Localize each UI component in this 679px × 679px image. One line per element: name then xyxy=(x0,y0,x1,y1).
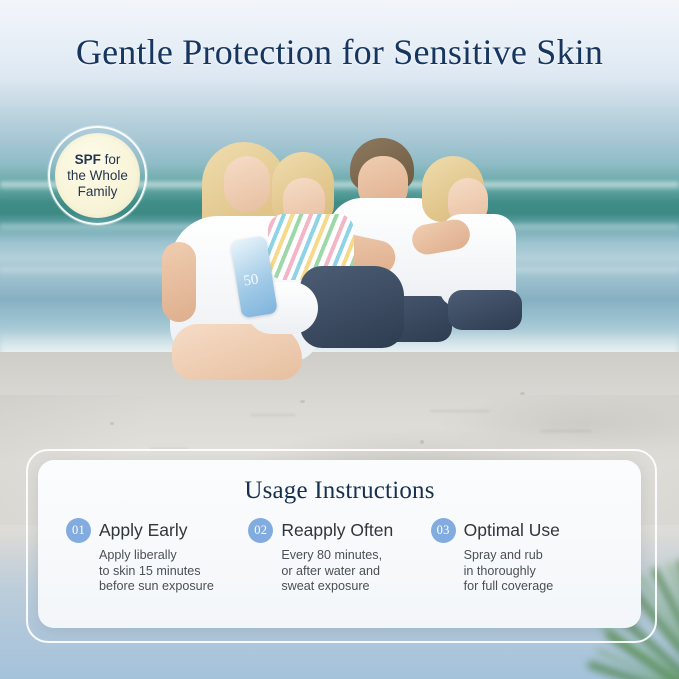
sand-streak xyxy=(540,430,592,432)
sand-speck xyxy=(420,440,424,444)
mother-face xyxy=(224,156,270,212)
step-description: Spray and rub in thoroughly for full cov… xyxy=(464,548,603,595)
badge-line-2: the Whole xyxy=(67,168,128,184)
mother-arm xyxy=(162,242,196,322)
poster-canvas: 50 Gentle Protection for Sensitive Skin … xyxy=(0,0,679,679)
bottle-spf-value: 50 xyxy=(242,271,259,290)
son-shorts xyxy=(448,290,522,330)
sand-speck xyxy=(110,422,114,425)
spf-badge: SPF for the Whole Family xyxy=(48,126,147,225)
steps-list: 01 Apply Early Apply liberally to skin 1… xyxy=(38,518,641,595)
step-number-badge: 03 xyxy=(431,518,456,543)
step-description: Apply liberally to skin 15 minutes befor… xyxy=(99,548,238,595)
sand-streak xyxy=(430,410,490,412)
badge-for-label: for xyxy=(101,152,121,167)
badge-line-1: SPF for xyxy=(67,152,128,168)
step-number-badge: 01 xyxy=(66,518,91,543)
sand-streak xyxy=(250,414,296,416)
step-header: 01 Apply Early xyxy=(66,518,238,543)
step-number-badge: 02 xyxy=(248,518,273,543)
step-item: 02 Reapply Often Every 80 minutes, or af… xyxy=(248,518,430,595)
step-title: Optimal Use xyxy=(464,520,560,541)
step-description: Every 80 minutes, or after water and swe… xyxy=(281,548,420,595)
step-header: 02 Reapply Often xyxy=(248,518,420,543)
sand-speck xyxy=(300,400,305,403)
family-beach-photo: 50 xyxy=(150,138,550,396)
step-title: Reapply Often xyxy=(281,520,393,541)
step-header: 03 Optimal Use xyxy=(431,518,603,543)
page-title: Gentle Protection for Sensitive Skin xyxy=(0,31,679,73)
card-title: Usage Instructions xyxy=(38,477,641,505)
step-item: 01 Apply Early Apply liberally to skin 1… xyxy=(66,518,248,595)
usage-instructions-card: Usage Instructions 01 Apply Early Apply … xyxy=(38,460,641,628)
sand-streak xyxy=(150,448,188,450)
badge-text: SPF for the Whole Family xyxy=(67,152,128,200)
step-item: 03 Optimal Use Spray and rub in thorough… xyxy=(431,518,613,595)
badge-line-3: Family xyxy=(67,184,128,200)
badge-spf-label: SPF xyxy=(75,152,101,167)
badge-core: SPF for the Whole Family xyxy=(55,133,140,218)
step-title: Apply Early xyxy=(99,520,188,541)
